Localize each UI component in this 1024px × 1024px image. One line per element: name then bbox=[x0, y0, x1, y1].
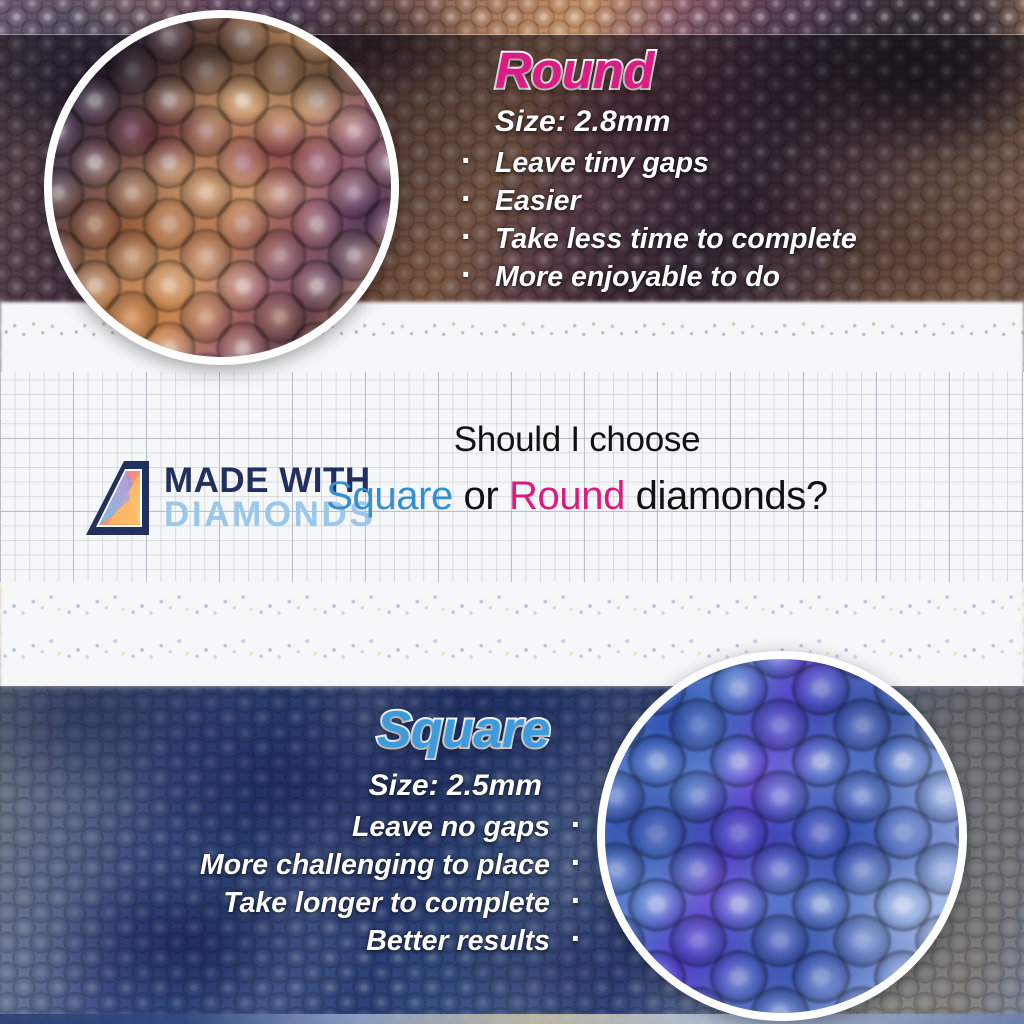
list-item: Easier bbox=[455, 183, 1000, 221]
square-size-label: Size: 2.5mm bbox=[30, 769, 542, 803]
list-item: More challenging to place bbox=[30, 847, 590, 885]
list-item: Take longer to complete bbox=[30, 885, 590, 923]
bottom-color-strip bbox=[0, 1014, 1024, 1024]
headline-square-word: Square bbox=[326, 474, 453, 518]
infographic-poster: Round Size: 2.8mm Leave tiny gaps Easier… bbox=[0, 0, 1024, 1024]
round-magnifier-lens bbox=[52, 18, 391, 357]
list-item: More enjoyable to do bbox=[455, 259, 1000, 297]
list-item: Take less time to complete bbox=[455, 221, 1000, 259]
round-text-block: Round Size: 2.8mm Leave tiny gaps Easier… bbox=[455, 44, 1000, 297]
headline-block: Should I choose Square or Round diamonds… bbox=[0, 420, 1024, 519]
list-item: Leave no gaps bbox=[30, 809, 590, 847]
square-magnifier-lens bbox=[605, 659, 959, 1013]
headline-tail: diamonds? bbox=[625, 474, 828, 518]
round-benefits-list: Leave tiny gaps Easier Take less time to… bbox=[455, 145, 1000, 297]
square-photo-splatter-speckle bbox=[0, 584, 1024, 662]
headline-line-1: Should I choose bbox=[130, 420, 1024, 460]
square-drill-magnifier-icon bbox=[597, 651, 967, 1021]
headline-line-2: Square or Round diamonds? bbox=[130, 474, 1024, 519]
square-traits-list: Leave no gaps More challenging to place … bbox=[30, 809, 590, 961]
round-magnified-color-overlay bbox=[52, 18, 391, 357]
round-size-label: Size: 2.8mm bbox=[495, 105, 1000, 139]
round-drill-magnifier-icon bbox=[44, 10, 399, 365]
list-item: Better results bbox=[30, 923, 590, 961]
square-magnified-color-overlay bbox=[605, 659, 959, 1013]
square-text-block: Square Size: 2.5mm Leave no gaps More ch… bbox=[30, 703, 590, 961]
headline-conjunction: or bbox=[453, 474, 509, 518]
list-item: Leave tiny gaps bbox=[455, 145, 1000, 183]
square-title: Square bbox=[30, 703, 550, 757]
headline-round-word: Round bbox=[509, 474, 625, 518]
round-title: Round bbox=[495, 44, 1000, 97]
